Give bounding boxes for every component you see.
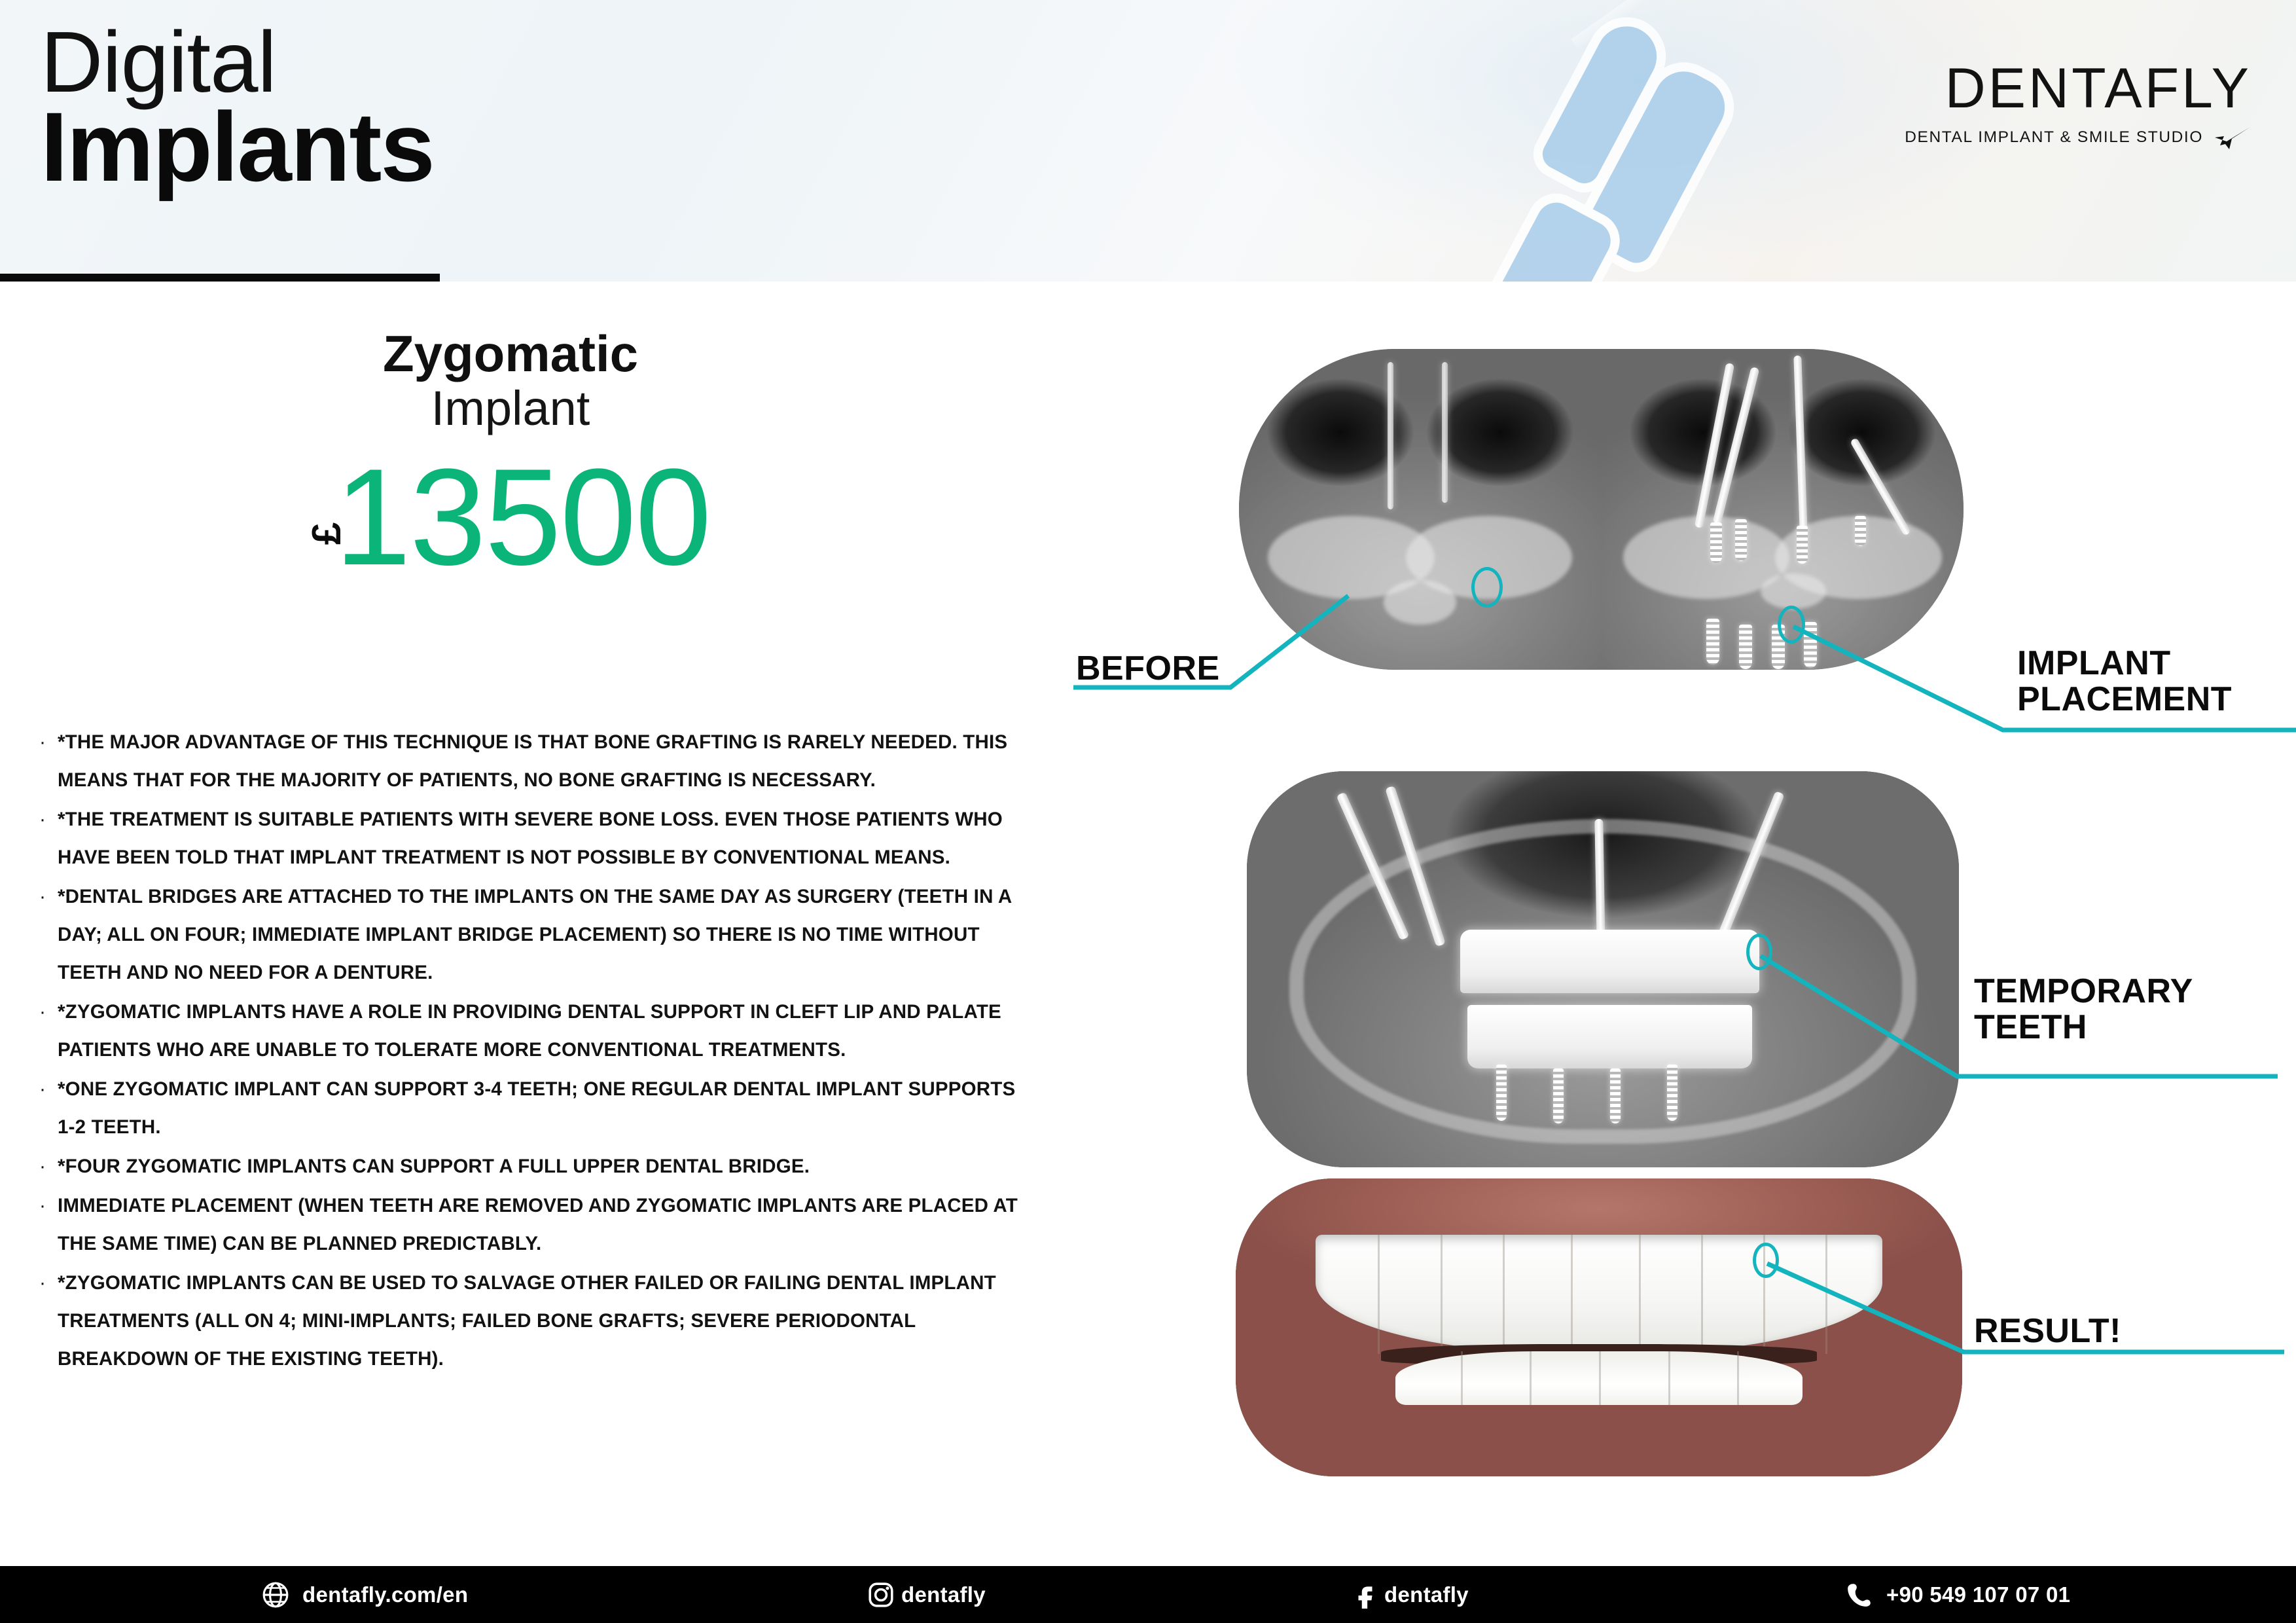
- globe-icon: [262, 1581, 289, 1609]
- leader-line-temporary-teeth: [1761, 956, 2296, 1113]
- footer-facebook[interactable]: dentafly: [1352, 1581, 1469, 1609]
- bullet-dot-icon: ·: [38, 1148, 47, 1186]
- bullet-dot-icon: ·: [38, 1264, 47, 1302]
- list-item: ·*THE TREATMENT IS SUITABLE PATIENTS WIT…: [38, 801, 1033, 877]
- instagram-icon: [867, 1581, 895, 1609]
- bullet-dot-icon: ·: [38, 723, 47, 761]
- list-item-text: *ZYGOMATIC IMPLANTS CAN BE USED TO SALVA…: [58, 1264, 1033, 1378]
- title-line-2: Implants: [41, 98, 434, 196]
- list-item: ·*ZYGOMATIC IMPLANTS CAN BE USED TO SALV…: [38, 1264, 1033, 1378]
- footer-phone-label: +90 549 107 07 01: [1886, 1582, 2070, 1607]
- xray-before-half: [1239, 349, 1602, 670]
- list-item-text: IMMEDIATE PLACEMENT (WHEN TEETH ARE REMO…: [58, 1187, 1033, 1263]
- bullet-dot-icon: ·: [38, 878, 47, 916]
- page-header: Digital Implants DENTAFLY DENTAL IMPLANT…: [0, 0, 2296, 282]
- list-item: ·*THE MAJOR ADVANTAGE OF THIS TECHNIQUE …: [38, 723, 1033, 799]
- price-value: 13500: [334, 453, 710, 581]
- list-item: ·*ONE ZYGOMATIC IMPLANT CAN SUPPORT 3-4 …: [38, 1070, 1033, 1146]
- list-item-text: *THE TREATMENT IS SUITABLE PATIENTS WITH…: [58, 801, 1033, 877]
- footer-website-label: dentafly.com/en: [302, 1582, 468, 1607]
- list-item: ·IMMEDIATE PLACEMENT (WHEN TEETH ARE REM…: [38, 1187, 1033, 1263]
- xray-before-after-image: [1239, 349, 1964, 670]
- list-item-text: *DENTAL BRIDGES ARE ATTACHED TO THE IMPL…: [58, 878, 1033, 992]
- footer-website[interactable]: dentafly.com/en: [262, 1581, 468, 1609]
- marker-ring-temporary-teeth: [1746, 934, 1772, 970]
- bullet-dot-icon: ·: [38, 993, 47, 1031]
- marker-ring-result: [1753, 1243, 1779, 1278]
- bullet-dot-icon: ·: [38, 1187, 47, 1225]
- leader-line-implant-placement: [1793, 629, 2296, 759]
- bullet-dot-icon: ·: [38, 1070, 47, 1108]
- list-item: ·*ZYGOMATIC IMPLANTS HAVE A ROLE IN PROV…: [38, 993, 1033, 1069]
- brand-logo: DENTAFLY DENTAL IMPLANT & SMILE STUDIO: [1905, 60, 2251, 151]
- brand-name: DENTAFLY: [1905, 60, 2251, 117]
- footer-instagram-label: dentafly: [901, 1582, 986, 1607]
- header-divider-rule: [0, 274, 440, 282]
- phone-icon: [1846, 1581, 1873, 1609]
- list-item-text: *ONE ZYGOMATIC IMPLANT CAN SUPPORT 3-4 T…: [58, 1070, 1033, 1146]
- service-name-line-2: Implant: [0, 382, 1021, 435]
- page-title: Digital Implants: [41, 18, 434, 196]
- bullet-dot-icon: ·: [38, 801, 47, 839]
- page-footer: dentafly.com/en dentafly dentafly +90 54…: [0, 1566, 2296, 1623]
- footer-instagram[interactable]: dentafly: [867, 1581, 986, 1609]
- service-name-line-1: Zygomatic: [0, 327, 1021, 381]
- benefits-list: ·*THE MAJOR ADVANTAGE OF THIS TECHNIQUE …: [38, 723, 1033, 1379]
- currency-symbol: £: [307, 522, 348, 545]
- footer-facebook-label: dentafly: [1384, 1582, 1469, 1607]
- list-item: ·*DENTAL BRIDGES ARE ATTACHED TO THE IMP…: [38, 878, 1033, 992]
- lower-teeth: [1395, 1351, 1803, 1405]
- price-row: £ 13500: [0, 453, 1021, 581]
- list-item: ·*FOUR ZYGOMATIC IMPLANTS CAN SUPPORT A …: [38, 1148, 1033, 1186]
- brand-tagline: DENTAL IMPLANT & SMILE STUDIO: [1905, 128, 2203, 147]
- marker-ring-before: [1471, 567, 1503, 608]
- marker-ring-implant-placement: [1778, 606, 1805, 644]
- facebook-icon: [1352, 1581, 1379, 1609]
- footer-phone[interactable]: +90 549 107 07 01: [1846, 1581, 2070, 1609]
- list-item-text: *ZYGOMATIC IMPLANTS HAVE A ROLE IN PROVI…: [58, 993, 1033, 1069]
- airplane-icon: [2214, 124, 2251, 151]
- list-item-text: *FOUR ZYGOMATIC IMPLANTS CAN SUPPORT A F…: [58, 1148, 810, 1186]
- leader-line-before: [1073, 681, 1518, 805]
- tooth-watermark-icon: [1471, 10, 1776, 282]
- leader-line-result: [1767, 1264, 2296, 1381]
- list-item-text: *THE MAJOR ADVANTAGE OF THIS TECHNIQUE I…: [58, 723, 1033, 799]
- header-streak-3: [1571, 0, 2221, 49]
- offer-block: Zygomatic Implant £ 13500: [0, 327, 1021, 581]
